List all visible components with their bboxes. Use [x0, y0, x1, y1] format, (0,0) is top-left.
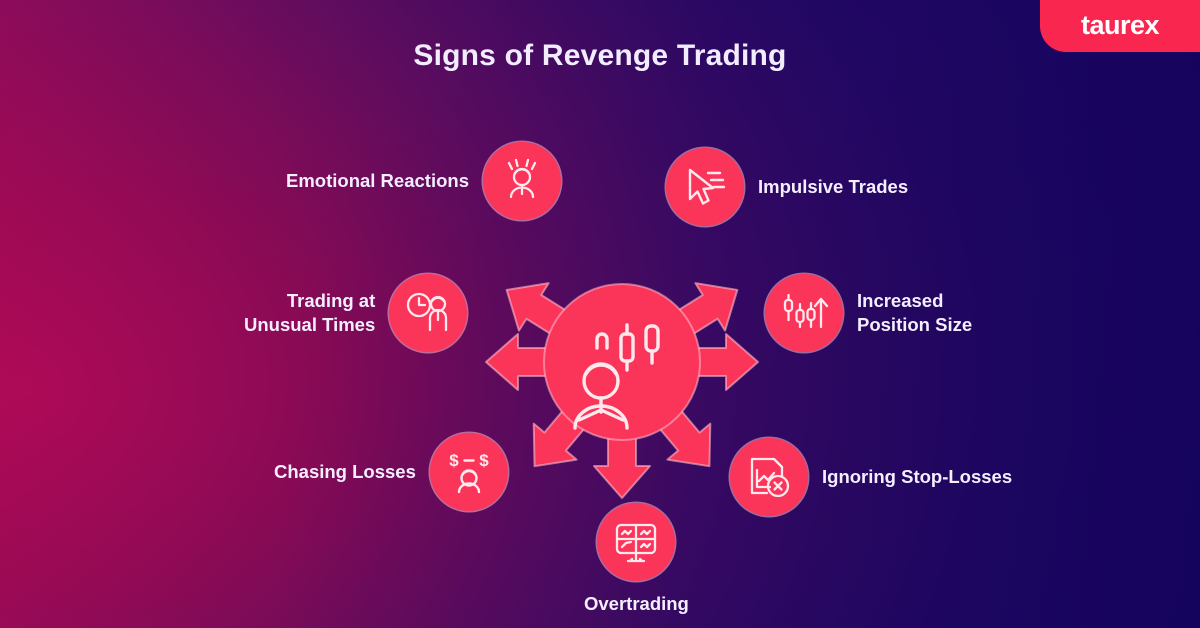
central-hub	[474, 214, 770, 510]
node-label-trading-at-unusual-times: Trading at Unusual Times	[244, 289, 375, 336]
brand-logo-badge: taurex	[1040, 0, 1200, 52]
node-label-increased-position-size: Increased Position Size	[857, 289, 972, 336]
clock-person-icon	[403, 288, 453, 338]
svg-text:$: $	[479, 451, 489, 470]
node-label-chasing-losses: Chasing Losses	[274, 460, 416, 484]
bubble-ignoring-stop-losses[interactable]	[730, 438, 808, 516]
angry-person-icon	[497, 156, 547, 206]
page-title: Signs of Revenge Trading	[0, 39, 1200, 73]
bubble-increased-position-size[interactable]	[765, 274, 843, 352]
bubble-impulsive-trades[interactable]	[666, 148, 744, 226]
node-increased-position-size[interactable]: Increased Position Size	[765, 274, 972, 352]
bubble-trading-at-unusual-times[interactable]	[389, 274, 467, 352]
node-trading-at-unusual-times[interactable]: Trading at Unusual Times	[244, 274, 467, 352]
node-label-impulsive-trades: Impulsive Trades	[758, 175, 908, 199]
node-label-overtrading: Overtrading	[584, 592, 689, 616]
dollar-loss-person-icon: $ $	[444, 447, 494, 497]
node-emotional-reactions[interactable]: Emotional Reactions	[286, 142, 561, 220]
infographic-canvas: taurex Signs of Revenge Trading	[0, 0, 1200, 628]
node-ignoring-stop-losses[interactable]: Ignoring Stop-Losses	[730, 438, 1012, 516]
node-overtrading[interactable]: Overtrading	[584, 503, 689, 616]
node-label-ignoring-stop-losses: Ignoring Stop-Losses	[822, 465, 1012, 489]
bubble-chasing-losses[interactable]: $ $	[430, 433, 508, 511]
taurex-wordmark: taurex	[1081, 12, 1159, 39]
node-chasing-losses[interactable]: Chasing Losses $ $	[274, 433, 508, 511]
node-impulsive-trades[interactable]: Impulsive Trades	[666, 148, 908, 226]
candlestick-up-arrow-icon	[779, 288, 829, 338]
svg-text:$: $	[449, 451, 459, 470]
bubble-emotional-reactions[interactable]	[483, 142, 561, 220]
cursor-click-icon	[680, 162, 730, 212]
bubble-overtrading[interactable]	[597, 503, 675, 581]
node-label-emotional-reactions: Emotional Reactions	[286, 169, 469, 193]
monitor-multi-chart-icon	[611, 517, 661, 567]
document-chart-x-icon	[744, 452, 794, 502]
